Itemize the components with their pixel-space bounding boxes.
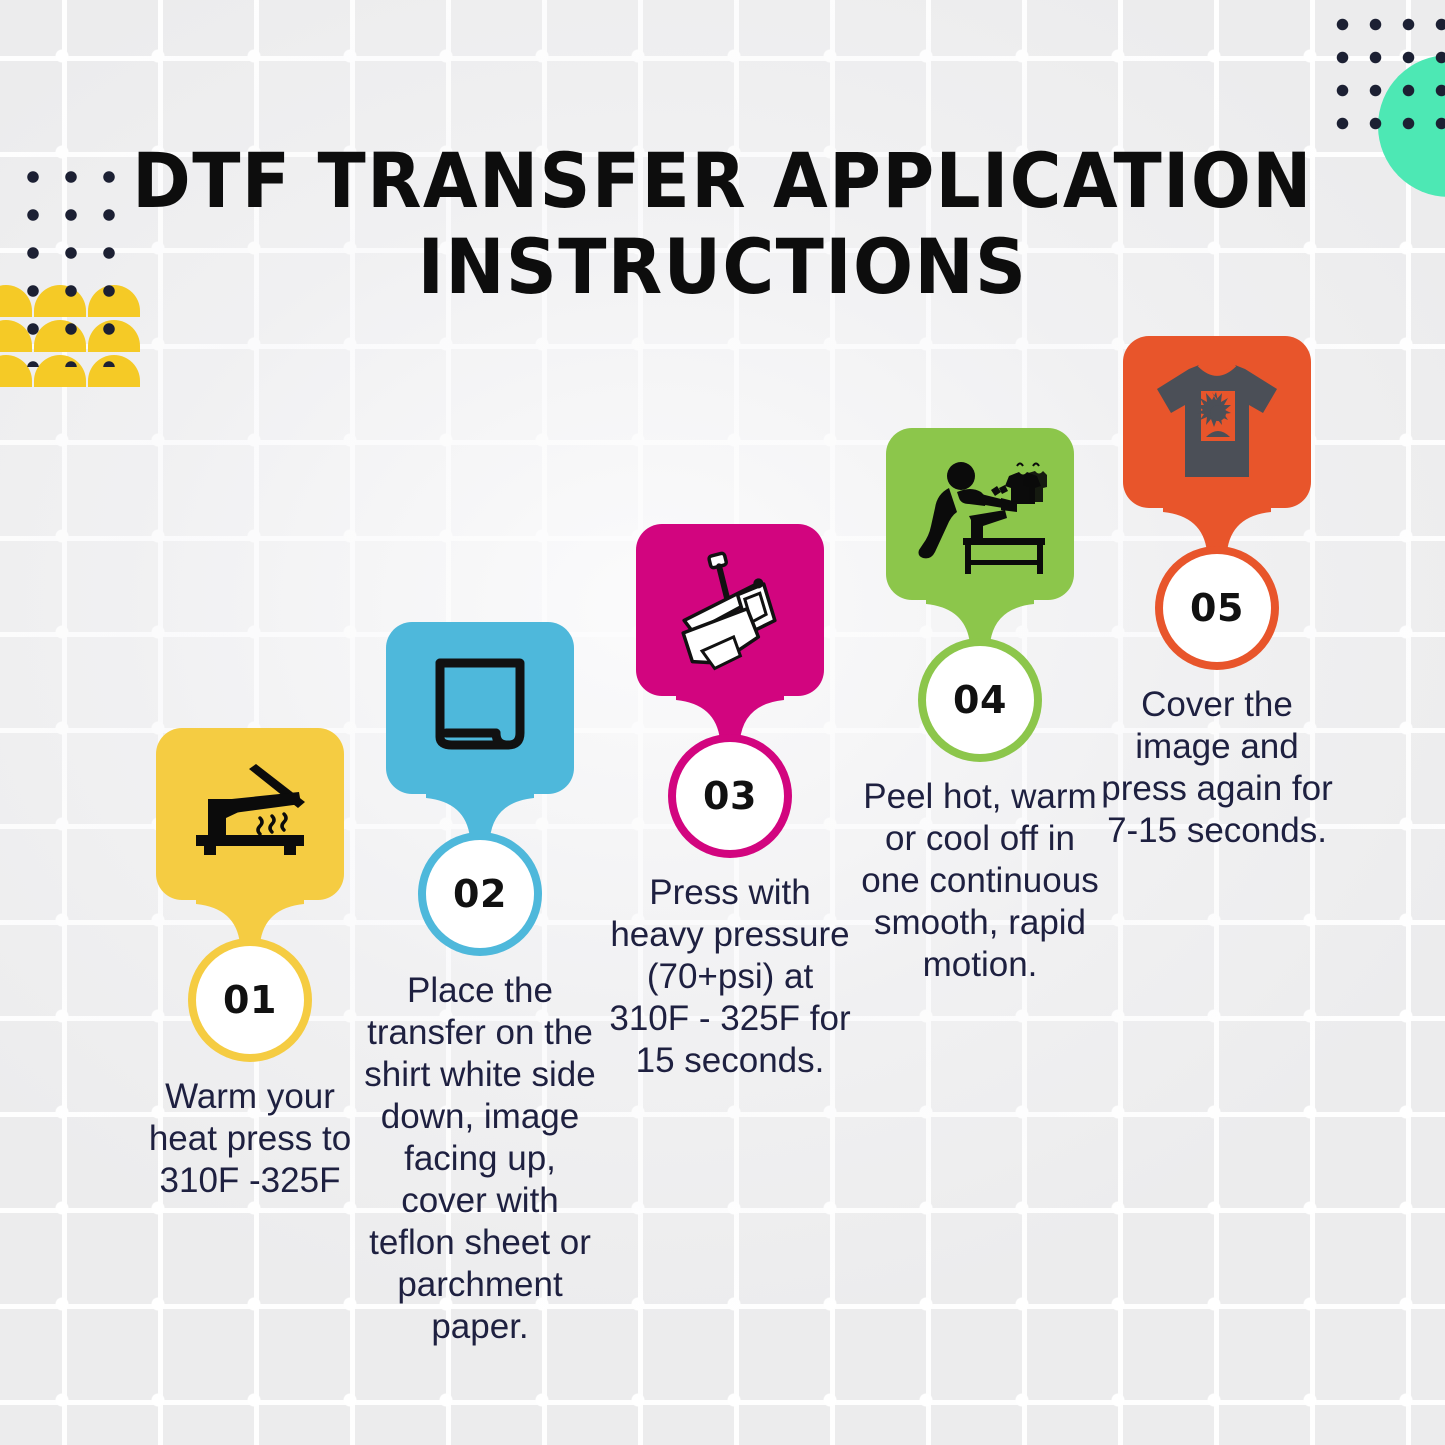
person-peeling-transfer-icon <box>913 454 1047 574</box>
step-item-03: 03 Press with heavy pressure (70+psi) at… <box>605 524 855 1082</box>
step-caption-04: Peel hot, warm or cool off in one contin… <box>855 776 1105 986</box>
step-item-01: 01 Warm your heat press to 310F -325F <box>125 728 375 1202</box>
heat-press-machine-icon <box>667 547 793 673</box>
step-visual-03: 03 <box>605 524 855 850</box>
step-number-04: 04 <box>953 678 1007 722</box>
step-number-03: 03 <box>703 774 757 818</box>
step-icon-card-05 <box>1123 336 1311 508</box>
step-number-bubble-01: 01 <box>196 946 304 1054</box>
step-item-02: 02 Place the transfer on the shirt white… <box>355 622 605 1348</box>
step-number-02: 02 <box>453 872 507 916</box>
page-title-line-2: INSTRUCTIONS <box>51 224 1395 310</box>
step-icon-card-04 <box>886 428 1074 600</box>
printed-tshirt-icon <box>1151 359 1283 485</box>
step-icon-card-01 <box>156 728 344 900</box>
step-icon-card-03 <box>636 524 824 696</box>
step-visual-01: 01 <box>125 728 375 1054</box>
page-title-line-1: DTF TRANSFER APPLICATION <box>51 138 1395 224</box>
step-number-bubble-04: 04 <box>926 646 1034 754</box>
step-item-04: 04 Peel hot, warm or cool off in one con… <box>855 428 1105 986</box>
step-item-05: 05 Cover the image and press again for 7… <box>1092 336 1342 852</box>
step-number-01: 01 <box>223 978 277 1022</box>
step-number-bubble-02: 02 <box>426 840 534 948</box>
step-caption-02: Place the transfer on the shirt white si… <box>355 970 605 1348</box>
step-number-bubble-05: 05 <box>1163 554 1271 662</box>
page-title: DTF TRANSFER APPLICATION INSTRUCTIONS <box>0 138 1445 310</box>
step-caption-03: Press with heavy pressure (70+psi) at 31… <box>605 872 855 1082</box>
step-icon-card-02 <box>386 622 574 794</box>
heat-press-open-icon <box>186 762 314 866</box>
step-visual-04: 04 <box>855 428 1105 754</box>
step-caption-01: Warm your heat press to 310F -325F <box>125 1076 375 1202</box>
transfer-sheet-icon <box>426 655 534 761</box>
step-visual-05: 05 <box>1092 336 1342 662</box>
step-caption-05: Cover the image and press again for 7-15… <box>1092 684 1342 852</box>
step-visual-02: 02 <box>355 622 605 948</box>
step-number-05: 05 <box>1190 586 1244 630</box>
step-number-bubble-03: 03 <box>676 742 784 850</box>
